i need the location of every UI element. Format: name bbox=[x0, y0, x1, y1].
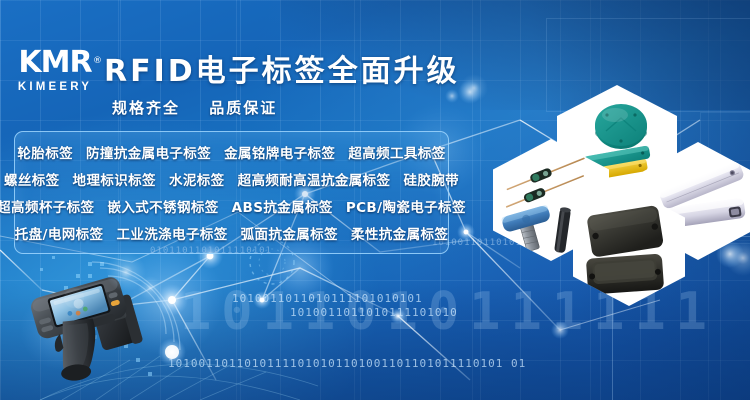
brand-logo[interactable]: KMR ® KIMEERY bbox=[12, 48, 98, 104]
logo-mark: KMR ® bbox=[12, 48, 98, 78]
logo-wordmark: KIMEERY bbox=[12, 81, 98, 93]
handheld-reader-graphic bbox=[26, 272, 154, 392]
tag-item[interactable]: 硅胶腕带 bbox=[403, 169, 459, 189]
subtitle-part-1: 规格齐全 bbox=[112, 99, 180, 117]
tag-item[interactable]: 超高频耐高温抗金属标签 bbox=[238, 169, 391, 189]
binary-line-1: 1010011011010111101010101 bbox=[232, 292, 423, 305]
header-block: RFID电子标签全面升级 规格齐全 品质保证 bbox=[104, 52, 460, 118]
tag-item[interactable]: ABS抗金属标签 bbox=[232, 196, 333, 216]
tag-category-panel: 轮胎标签 防撞抗金属电子标签 金属铭牌电子标签 超高频工具标签 螺丝标签 地理标… bbox=[14, 131, 449, 254]
page-title: RFID电子标签全面升级 bbox=[104, 52, 460, 92]
tag-item[interactable]: 地理标识标签 bbox=[73, 169, 156, 189]
binary-line-2: 1010011011010111101010 bbox=[290, 306, 458, 319]
subtitle-part-2: 品质保证 bbox=[209, 99, 277, 117]
tag-row-4: 托盘/电网标签 工业洗涤电子标签 弧面抗金属标签 柔性抗金属标签 bbox=[19, 219, 444, 246]
binary-line-3: 1010011011010111101010110100110110101111… bbox=[168, 357, 526, 370]
tag-item[interactable]: 水泥标签 bbox=[169, 169, 225, 189]
tag-item[interactable]: 工业洗涤电子标签 bbox=[116, 223, 227, 243]
logo-mark-text: KMR bbox=[18, 45, 91, 80]
page-subtitle: 规格齐全 品质保证 bbox=[112, 97, 460, 118]
banner-root: 1011010111111 1010011011010111101010101 … bbox=[0, 0, 750, 400]
tag-item[interactable]: 防撞抗金属电子标签 bbox=[86, 142, 211, 162]
tag-item[interactable]: 超高频杯子标签 bbox=[0, 196, 94, 216]
tag-item[interactable]: 托盘/电网标签 bbox=[15, 223, 104, 243]
registered-trademark-icon: ® bbox=[93, 46, 101, 76]
decor-box-2 bbox=[546, 18, 750, 112]
tag-item[interactable]: 嵌入式不锈钢标签 bbox=[107, 196, 218, 216]
tag-item[interactable]: 超高频工具标签 bbox=[348, 142, 445, 162]
tag-row-2: 螺丝标签 地理标识标签 水泥标签 超高频耐高温抗金属标签 硅胶腕带 bbox=[19, 165, 444, 192]
tag-item[interactable]: PCB/陶瓷电子标签 bbox=[346, 196, 466, 216]
tag-item[interactable]: 弧面抗金属标签 bbox=[241, 223, 338, 243]
tag-item[interactable]: 螺丝标签 bbox=[4, 169, 60, 189]
tag-item[interactable]: 柔性抗金属标签 bbox=[351, 223, 448, 243]
tag-row-3: 超高频杯子标签 嵌入式不锈钢标签 ABS抗金属标签 PCB/陶瓷电子标签 bbox=[19, 192, 444, 219]
handheld-rfid-reader[interactable] bbox=[26, 272, 154, 392]
tag-row-1: 轮胎标签 防撞抗金属电子标签 金属铭牌电子标签 超高频工具标签 bbox=[19, 138, 444, 165]
tag-item[interactable]: 金属铭牌电子标签 bbox=[224, 142, 335, 162]
tag-item[interactable]: 轮胎标签 bbox=[17, 142, 73, 162]
